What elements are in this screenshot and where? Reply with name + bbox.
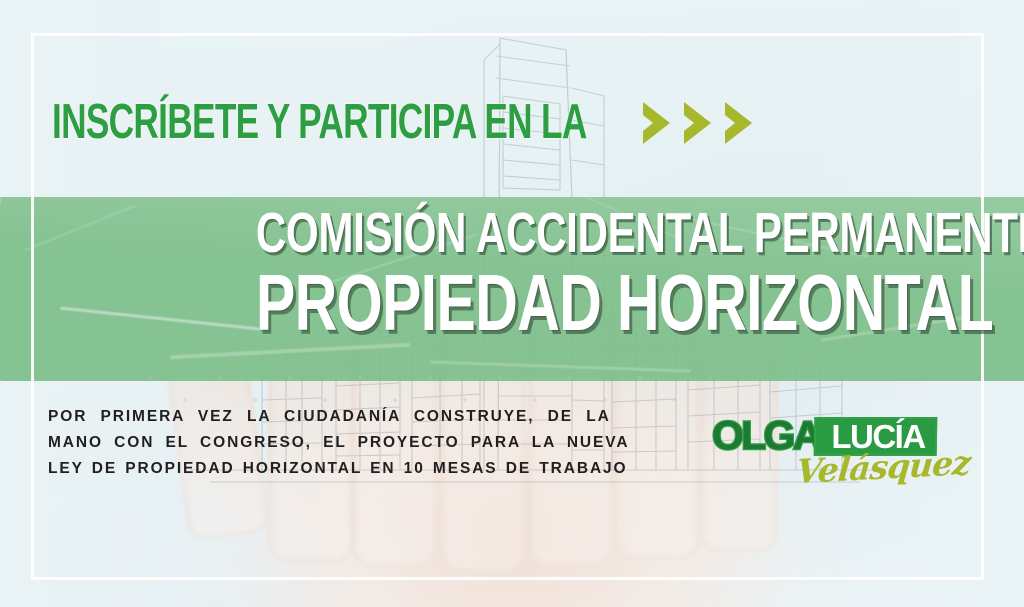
body-copy-line: POR PRIMERA VEZ LA CIUDADANÍA CONSTRUYE,… (48, 404, 698, 430)
kicker-row: INSCRÍBETE Y PARTICIPA EN LA (52, 98, 760, 147)
headline-line-2: PROPIEDAD HORIZONTAL (256, 265, 984, 342)
body-copy-line: LEY DE PROPIEDAD HORIZONTAL EN 10 MESAS … (48, 456, 698, 482)
poster-content: INSCRÍBETE Y PARTICIPA EN LA COMISIÓN AC… (0, 0, 1024, 607)
body-copy: POR PRIMERA VEZ LA CIUDADANÍA CONSTRUYE,… (48, 404, 698, 482)
body-copy-line: MANO CON EL CONGRESO, EL PROYECTO PARA L… (48, 430, 698, 456)
headline-line-1: COMISIÓN ACCIDENTAL PERMANENTE DE (256, 206, 984, 261)
triple-chevron-right-icon (640, 100, 760, 146)
kicker-text: INSCRÍBETE Y PARTICIPA EN LA (52, 98, 587, 147)
olga-lucia-velasquez-logo: OLGA OLGA LUCÍA Velásquez (712, 416, 952, 494)
headline-block: COMISIÓN ACCIDENTAL PERMANENTE DE PROPIE… (0, 206, 984, 342)
poster-canvas: INSCRÍBETE Y PARTICIPA EN LA COMISIÓN AC… (0, 0, 1024, 607)
logo-first-name: OLGA (712, 416, 820, 456)
logo-surname: Velásquez (795, 445, 972, 490)
